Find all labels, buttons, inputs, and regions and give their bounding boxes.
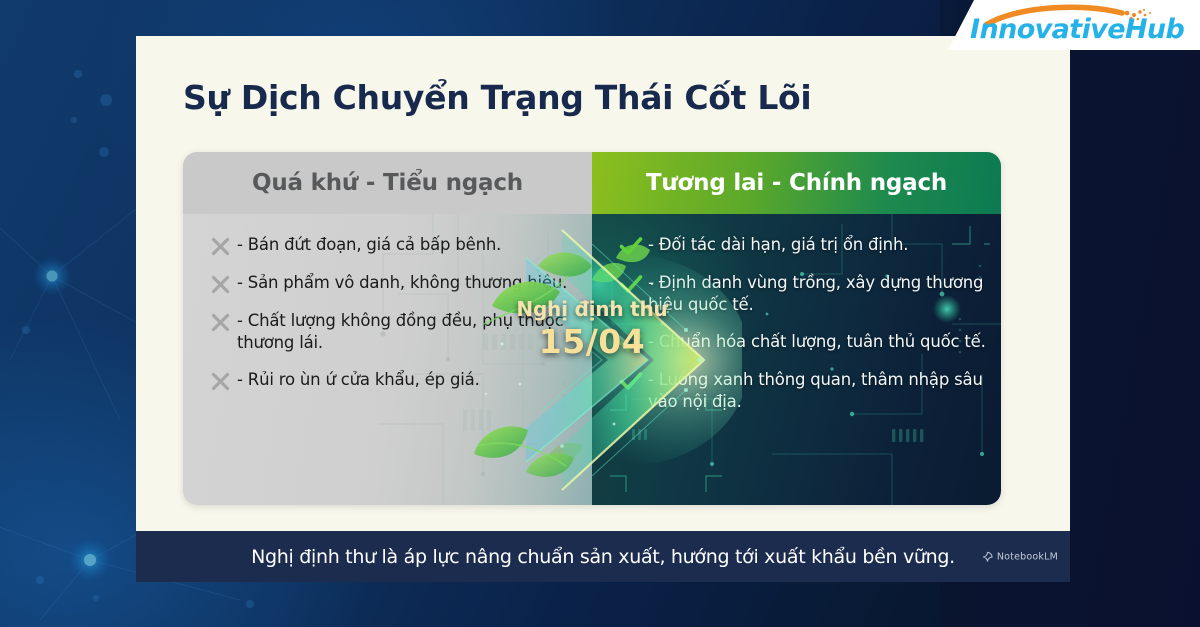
list-item-text: - Rủi ro ùn ứ cửa khẩu, ép giá.: [237, 369, 480, 391]
check-icon: [614, 236, 648, 257]
check-icon: [614, 274, 648, 295]
logo-text-second: Hub: [1125, 14, 1184, 45]
list-item: - Chuẩn hóa chất lượng, tuân thủ quốc tế…: [614, 331, 991, 354]
list-item-text: - Đối tác dài hạn, giá trị ổn định.: [648, 234, 908, 256]
check-icon: [614, 333, 648, 354]
list-item: - Sản phẩm vô danh, không thương hiệu.: [203, 272, 582, 295]
cross-icon: [203, 371, 237, 392]
check-icon: [614, 371, 648, 392]
cross-icon: [203, 236, 237, 257]
column-future-header: Tương lai - Chính ngạch: [592, 152, 1001, 214]
future-list: - Đối tác dài hạn, giá trị ổn định. - Đị…: [592, 214, 1001, 413]
notebooklm-icon: [982, 551, 993, 562]
page-title: Sự Dịch Chuyển Trạng Thái Cốt Lõi: [183, 78, 811, 117]
watermark-text: NotebookLM: [997, 551, 1058, 562]
column-future: Tương lai - Chính ngạch: [592, 152, 1001, 505]
list-item-text: - Chất lượng không đồng đều, phụ thuộc t…: [237, 310, 582, 354]
list-item: - Luồng xanh thông quan, thâm nhập sâu v…: [614, 369, 991, 413]
cross-icon: [203, 312, 237, 333]
list-item: - Chất lượng không đồng đều, phụ thuộc t…: [203, 310, 582, 354]
notebooklm-watermark: NotebookLM: [982, 551, 1058, 562]
past-list: - Bán đứt đoạn, giá cả bấp bênh. - Sản p…: [183, 214, 592, 392]
comparison-panel: Quá khứ - Tiểu ngạch: [183, 152, 1001, 505]
cross-icon: [203, 274, 237, 295]
list-item-text: - Định danh vùng trồng, xây dựng thương …: [648, 272, 991, 316]
logo-text-first: Innovative: [970, 14, 1125, 45]
list-item: - Định danh vùng trồng, xây dựng thương …: [614, 272, 991, 316]
list-item-text: - Sản phẩm vô danh, không thương hiệu.: [237, 272, 567, 294]
column-future-body: - Đối tác dài hạn, giá trị ổn định. - Đị…: [592, 214, 1001, 505]
logo-text: InnovativeHub: [970, 14, 1178, 45]
footer-text: Nghị định thư là áp lực nâng chuẩn sản x…: [251, 546, 955, 568]
column-past: Quá khứ - Tiểu ngạch: [183, 152, 592, 505]
column-past-body: - Bán đứt đoạn, giá cả bấp bênh. - Sản p…: [183, 214, 592, 505]
slide-card: Sự Dịch Chuyển Trạng Thái Cốt Lõi Quá kh…: [136, 36, 1070, 582]
column-past-header: Quá khứ - Tiểu ngạch: [183, 152, 592, 214]
list-item: - Đối tác dài hạn, giá trị ổn định.: [614, 234, 991, 257]
list-item: - Rủi ro ùn ứ cửa khẩu, ép giá.: [203, 369, 582, 392]
list-item-text: - Luồng xanh thông quan, thâm nhập sâu v…: [648, 369, 991, 413]
list-item-text: - Bán đứt đoạn, giá cả bấp bênh.: [237, 234, 501, 256]
list-item-text: - Chuẩn hóa chất lượng, tuân thủ quốc tế…: [648, 331, 986, 353]
footer-bar: Nghị định thư là áp lực nâng chuẩn sản x…: [136, 531, 1070, 582]
brand-logo: InnovativeHub: [948, 0, 1200, 50]
list-item: - Bán đứt đoạn, giá cả bấp bênh.: [203, 234, 582, 257]
